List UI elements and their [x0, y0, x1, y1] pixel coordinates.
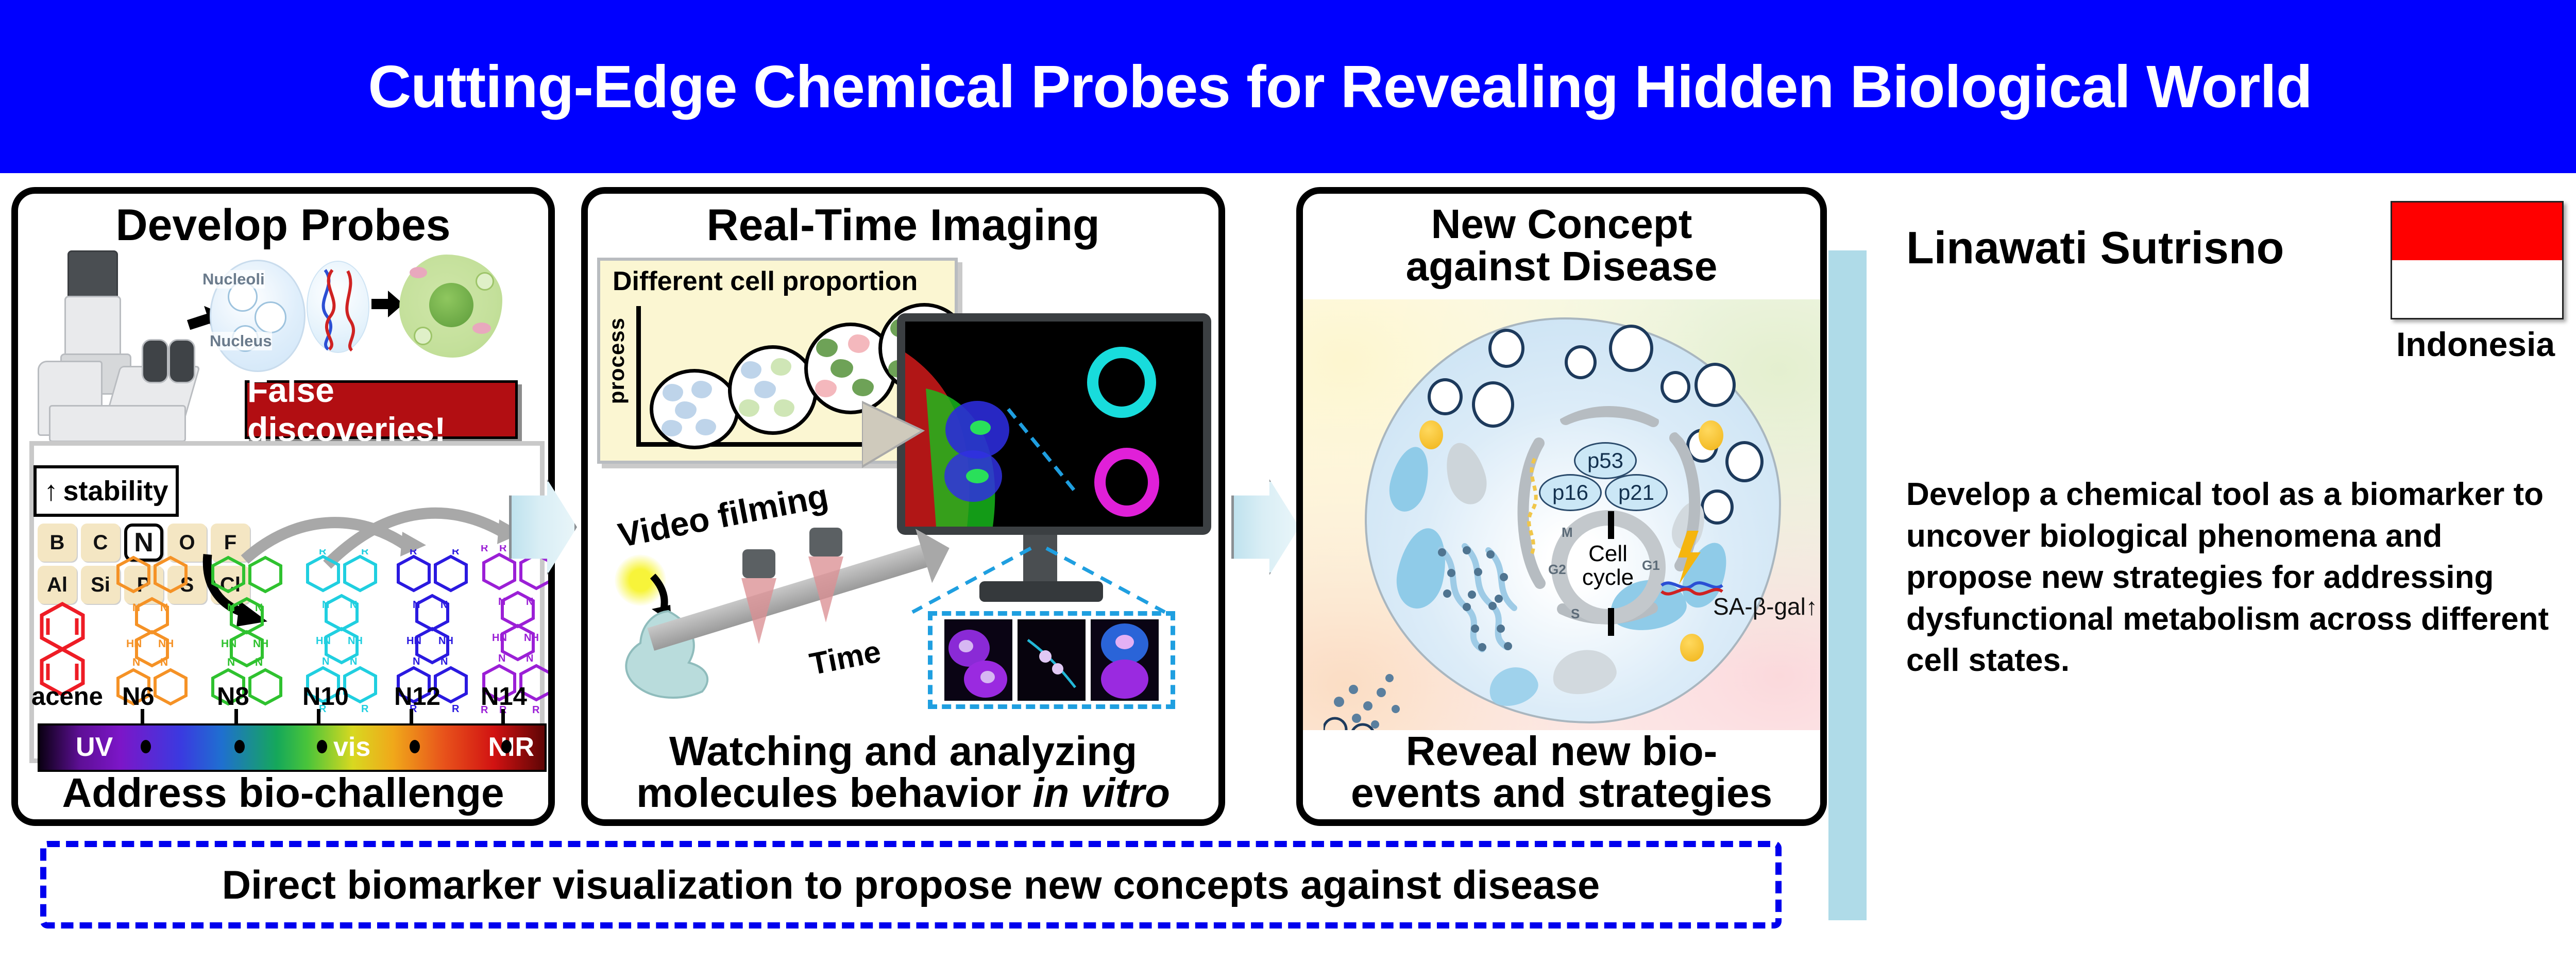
panel-new-concept: New Concept against Disease: [1296, 187, 1827, 826]
leader-n10: [317, 709, 320, 724]
spectrum-marker-n10: [317, 740, 327, 753]
svg-text:N: N: [255, 602, 263, 614]
svg-text:N: N: [413, 599, 420, 611]
panel3-heading: New Concept against Disease: [1303, 203, 1820, 287]
svg-text:N: N: [440, 599, 448, 611]
svg-text:N: N: [413, 656, 420, 667]
lysosome: [1488, 329, 1524, 368]
svg-text:N: N: [255, 656, 263, 668]
dna-helix-icon: [308, 262, 368, 352]
lysosome: [1472, 381, 1514, 428]
svg-text:HN: HN: [492, 632, 507, 644]
spectrum-marker-n12: [410, 740, 420, 753]
svg-text:N: N: [498, 653, 505, 664]
svg-text:HN: HN: [316, 635, 331, 647]
nucleus-label: Nucleus: [210, 332, 272, 350]
svg-text:N: N: [440, 656, 448, 667]
flag-stripe-white: [2392, 260, 2562, 318]
inset-y-axis: [636, 306, 641, 445]
fluorescence-image: [905, 322, 1203, 527]
inset-title: Different cell proportion: [613, 266, 918, 297]
bottom-summary-text: Direct biomarker visualization to propos…: [222, 862, 1600, 908]
svg-text:R: R: [410, 549, 417, 557]
leader-n14: [501, 709, 505, 724]
lysosome: [1660, 371, 1690, 403]
leader-n12: [410, 709, 413, 724]
lysosome: [1428, 378, 1463, 415]
panel2-heading: Real-Time Imaging: [588, 203, 1218, 248]
svg-text:R: R: [319, 549, 327, 557]
mitochondrion: [1549, 645, 1620, 699]
molecule-label-n14: N14: [481, 682, 527, 711]
spectrum-marker-n6: [141, 740, 151, 753]
molecule-label-acene: acene: [31, 682, 103, 711]
chevron-arrow-2: [1231, 479, 1299, 575]
dna-illustration: [307, 261, 369, 353]
inset-callout: [862, 400, 929, 477]
gene-marker-p21: p21: [1605, 474, 1668, 511]
thumbnail-1: [944, 619, 1012, 701]
stability-arrow-icon: ↑: [44, 475, 58, 507]
country-label: Indonesia: [2391, 325, 2561, 364]
phase-s: S: [1571, 606, 1580, 622]
svg-text:N: N: [132, 602, 140, 614]
spectrum-label-vis: vis: [333, 732, 370, 763]
svg-text:R: R: [499, 545, 507, 554]
indonesia-flag-icon: [2391, 201, 2564, 319]
panel3-heading-line2: against Disease: [1406, 243, 1718, 289]
lipid-droplet: [1680, 634, 1704, 662]
bottom-summary-banner: Direct biomarker visualization to propos…: [40, 841, 1782, 929]
svg-text:N: N: [526, 653, 533, 664]
phase-g2: G2: [1548, 562, 1566, 578]
cell-cycle-line1: Cell: [1588, 541, 1628, 566]
svg-text:N: N: [350, 656, 357, 667]
researcher-name: Linawati Sutrisno: [1906, 222, 2284, 274]
svg-text:R: R: [481, 545, 488, 554]
leader-n8: [234, 709, 238, 724]
stability-badge: ↑ stability: [33, 465, 179, 517]
lamp-2: [809, 528, 842, 595]
lipid-droplet: [1419, 420, 1443, 449]
svg-text:N: N: [227, 656, 235, 668]
mitochondrion: [1439, 438, 1493, 509]
vertical-divider-bar: [1828, 250, 1867, 920]
svg-text:N: N: [322, 599, 329, 611]
svg-text:N: N: [132, 656, 140, 668]
spectrum-bar: UV vis NIR: [38, 723, 547, 772]
svg-text:N: N: [227, 602, 235, 614]
inset-y-axis-label: process: [604, 317, 629, 404]
false-discoveries-label: False discoveries!: [247, 370, 515, 449]
panel3-footer-line2: events and strategies: [1351, 770, 1772, 816]
dish-stage-1: [650, 369, 739, 449]
svg-text:R: R: [452, 549, 460, 557]
nucleoli-label: Nucleoli: [202, 270, 265, 289]
svg-text:N: N: [160, 656, 168, 668]
secreted-vesicles: [1324, 652, 1447, 740]
stained-cell-illustration: [399, 255, 502, 358]
microscope-illustration: [33, 250, 204, 441]
panel3-heading-line1: New Concept: [1431, 201, 1692, 247]
molecule-label-n6: N6: [122, 682, 155, 711]
molecule-label-n8: N8: [217, 682, 249, 711]
panel3-footer: Reveal new bio- events and strategies: [1303, 730, 1820, 814]
svg-text:N: N: [322, 656, 329, 667]
spectrum-marker-n14: [501, 740, 512, 753]
cell-cycle-label: Cell cycle: [1562, 542, 1654, 589]
svg-text:HN: HN: [126, 638, 142, 650]
leader-n6: [141, 709, 144, 724]
false-discoveries-badge: False discoveries!: [245, 380, 518, 439]
sa-beta-gal-marker: SA-β-gal↑: [1713, 593, 1818, 620]
svg-text:NH: NH: [158, 638, 174, 650]
title-banner: Cutting-Edge Chemical Probes for Reveali…: [0, 0, 2576, 173]
svg-text:HN: HN: [406, 635, 421, 647]
svg-text:HN: HN: [221, 638, 236, 650]
page-title: Cutting-Edge Chemical Probes for Reveali…: [368, 52, 2312, 121]
svg-text:R: R: [361, 549, 369, 557]
svg-text:R: R: [532, 704, 540, 715]
panel2-footer-line1: Watching and analyzing: [669, 728, 1137, 774]
panel-real-time-imaging: Real-Time Imaging Different cell proport…: [581, 187, 1225, 826]
molecule-label-n12: N12: [394, 682, 440, 711]
research-description: Develop a chemical tool as a biomarker t…: [1906, 474, 2561, 682]
svg-text:R: R: [452, 703, 460, 714]
chromatin-strand: [1519, 457, 1550, 560]
lysosome: [1694, 363, 1736, 407]
panel2-footer-line2: molecules behavior: [636, 770, 1032, 816]
panel2-footer: Watching and analyzing molecules behavio…: [588, 730, 1218, 814]
panel2-footer-italic: in vitro: [1032, 770, 1170, 816]
molecule-label-n10: N10: [302, 682, 349, 711]
panel3-footer-line1: Reveal new bio-: [1406, 728, 1718, 774]
element-al[interactable]: Al: [38, 566, 77, 604]
timelapse-thumbnails: [928, 611, 1175, 709]
mitochondrion: [1384, 443, 1435, 515]
thumbnail-3: [1091, 619, 1159, 701]
svg-text:NH: NH: [524, 632, 539, 644]
spectrum-marker-n8: [234, 740, 245, 753]
stability-label: stability: [63, 475, 168, 507]
monitor-to-thumbnails-connector: [876, 546, 1185, 618]
panel1-heading: Develop Probes: [18, 203, 548, 248]
svg-text:R: R: [361, 703, 369, 714]
graphical-abstract: Cutting-Edge Chemical Probes for Reveali…: [0, 0, 2576, 962]
thumbnail-2: [1018, 619, 1086, 701]
panel1-footer: Address bio-challenge: [18, 772, 548, 814]
flag-stripe-red: [2392, 202, 2562, 260]
svg-text:R: R: [551, 704, 555, 715]
element-b[interactable]: B: [38, 524, 77, 562]
svg-text:NH: NH: [348, 635, 363, 647]
dna-damage-icon: [1653, 528, 1725, 600]
lysosome: [1609, 325, 1653, 372]
gene-marker-p53: p53: [1574, 442, 1637, 479]
video-filming-label: Video filming: [615, 476, 832, 554]
dna-to-cell-arrow: [371, 299, 390, 309]
dish-stage-2: [728, 345, 818, 435]
panel-develop-probes: Develop Probes Nucleoli Nucleus: [11, 187, 555, 826]
svg-text:NH: NH: [253, 638, 268, 650]
monitor-display: [897, 313, 1211, 535]
svg-text:N: N: [498, 596, 505, 607]
lamp-1: [742, 549, 775, 616]
lipid-droplet: [1699, 420, 1723, 450]
svg-text:NH: NH: [438, 635, 453, 647]
svg-text:N: N: [526, 596, 533, 607]
time-label: Time: [807, 633, 884, 682]
lysosome: [1565, 345, 1597, 379]
svg-text:N: N: [160, 602, 168, 614]
cell-cycle-line2: cycle: [1582, 565, 1634, 590]
phase-m: M: [1562, 525, 1573, 541]
svg-text:N: N: [350, 599, 357, 611]
spectrum-label-uv: UV: [76, 732, 113, 763]
lysosome: [1725, 441, 1764, 482]
